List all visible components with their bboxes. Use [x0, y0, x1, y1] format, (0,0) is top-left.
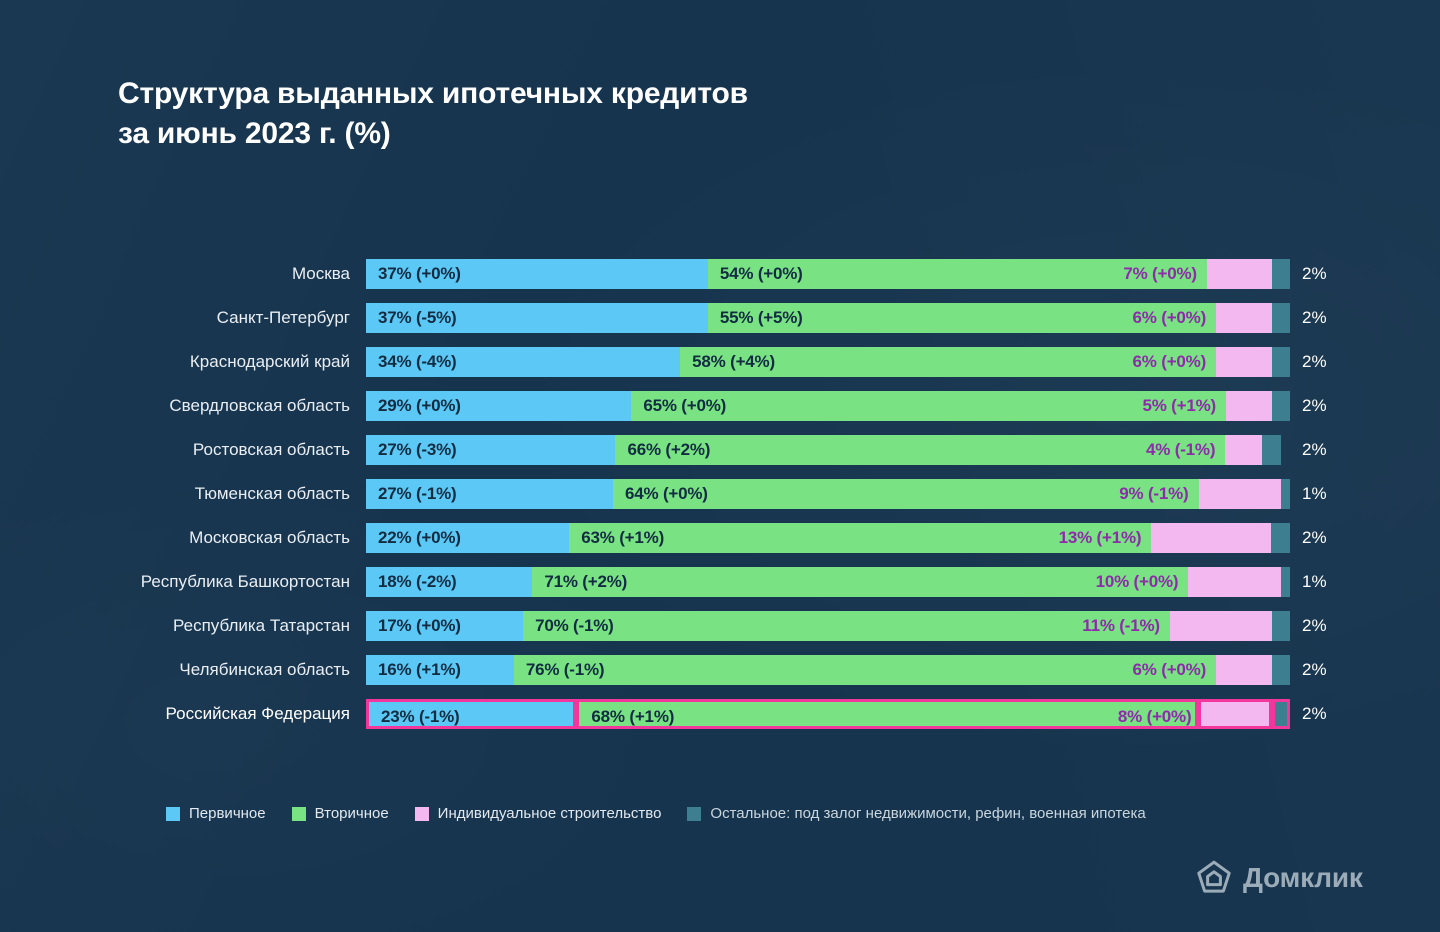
- bar-segment-primary: 29% (+0%): [366, 391, 631, 421]
- bar-segment-individual: 6% (+0%): [1216, 303, 1271, 333]
- segment-value-label: 6% (+0%): [1133, 303, 1207, 333]
- other-value-label: 2%: [1302, 655, 1327, 685]
- bar-segment-other: [1272, 611, 1290, 641]
- segment-value-label: 34% (-4%): [378, 347, 457, 377]
- bar-segment-individual: 13% (+1%): [1151, 523, 1271, 553]
- other-value-label: 2%: [1302, 303, 1327, 333]
- other-value-label: 2%: [1302, 523, 1327, 553]
- row-label: Санкт-Петербург: [0, 296, 350, 340]
- legend-label: Остальное: под залог недвижимости, рефин…: [710, 805, 1145, 822]
- other-value-label: 2%: [1302, 699, 1327, 729]
- segment-value-label: 64% (+0%): [625, 479, 708, 509]
- segment-value-label: 54% (+0%): [720, 259, 803, 289]
- row-label: Москва: [0, 252, 350, 296]
- bar-segment-other: [1272, 259, 1290, 289]
- legend-swatch-icon: [415, 807, 429, 821]
- stacked-bar: 37% (+0%)54% (+0%)7% (+0%): [366, 259, 1290, 289]
- bar-segment-individual: 7% (+0%): [1207, 259, 1272, 289]
- bar-segment-other: [1281, 567, 1290, 597]
- row-label: Московская область: [0, 516, 350, 560]
- legend-item-primary[interactable]: Первичное: [166, 805, 266, 822]
- other-value-label: 2%: [1302, 347, 1327, 377]
- bar-segment-other: [1271, 523, 1289, 553]
- other-value-label: 2%: [1302, 391, 1327, 421]
- chart-row: Республика Татарстан17% (+0%)70% (-1%)11…: [0, 604, 1440, 648]
- stacked-bar: 34% (-4%)58% (+4%)6% (+0%): [366, 347, 1290, 377]
- bar-segment-individual: 4% (-1%): [1225, 435, 1262, 465]
- bar-segment-primary: 23% (-1%): [366, 699, 576, 729]
- stacked-bar: 18% (-2%)71% (+2%)10% (+0%): [366, 567, 1290, 597]
- stacked-bar: 22% (+0%)63% (+1%)13% (+1%): [366, 523, 1290, 553]
- stacked-bar-chart: Москва37% (+0%)54% (+0%)7% (+0%)2%Санкт-…: [0, 252, 1440, 736]
- chart-row: Московская область22% (+0%)63% (+1%)13% …: [0, 516, 1440, 560]
- other-value-label: 1%: [1302, 479, 1327, 509]
- stacked-bar: 27% (-3%)66% (+2%)4% (-1%): [366, 435, 1290, 465]
- segment-value-label: 71% (+2%): [544, 567, 627, 597]
- segment-value-label: 27% (-3%): [378, 435, 457, 465]
- bar-segment-individual: 5% (+1%): [1226, 391, 1272, 421]
- segment-value-label: 17% (+0%): [378, 611, 461, 641]
- row-label: Свердловская область: [0, 384, 350, 428]
- bar-segment-individual: 11% (-1%): [1170, 611, 1272, 641]
- bar-segment-individual: 10% (+0%): [1188, 567, 1280, 597]
- stacked-bar: 23% (-1%)68% (+1%)8% (+0%): [366, 699, 1290, 729]
- segment-value-label: 8% (+0%): [1118, 702, 1192, 732]
- bar-segment-other: [1281, 479, 1290, 509]
- stacked-bar: 16% (+1%)76% (-1%)6% (+0%): [366, 655, 1290, 685]
- row-label: Челябинская область: [0, 648, 350, 692]
- row-label: Ростовская область: [0, 428, 350, 472]
- chart-row: Москва37% (+0%)54% (+0%)7% (+0%)2%: [0, 252, 1440, 296]
- bar-segment-secondary: 70% (-1%): [523, 611, 1170, 641]
- segment-value-label: 23% (-1%): [381, 702, 460, 732]
- bar-segment-secondary: 64% (+0%): [613, 479, 1199, 509]
- row-label: Республика Татарстан: [0, 604, 350, 648]
- segment-value-label: 70% (-1%): [535, 611, 614, 641]
- domclick-logo: Домклик: [1196, 860, 1363, 896]
- row-label: Тюменская область: [0, 472, 350, 516]
- bar-segment-secondary: 65% (+0%): [631, 391, 1226, 421]
- bar-segment-other: [1272, 391, 1290, 421]
- segment-value-label: 11% (-1%): [1082, 611, 1160, 641]
- bar-segment-other: [1272, 303, 1290, 333]
- chart-row: Свердловская область29% (+0%)65% (+0%)5%…: [0, 384, 1440, 428]
- logo-wordmark: Домклик: [1243, 862, 1363, 894]
- segment-value-label: 6% (+0%): [1133, 655, 1207, 685]
- bar-segment-other: [1272, 347, 1290, 377]
- segment-value-label: 58% (+4%): [692, 347, 775, 377]
- segment-value-label: 7% (+0%): [1123, 259, 1197, 289]
- legend-label: Вторичное: [315, 805, 389, 822]
- legend-swatch-icon: [166, 807, 180, 821]
- segment-value-label: 16% (+1%): [378, 655, 461, 685]
- chart-row: Республика Башкортостан18% (-2%)71% (+2%…: [0, 560, 1440, 604]
- bar-segment-individual: 6% (+0%): [1216, 655, 1271, 685]
- legend-swatch-icon: [687, 807, 701, 821]
- other-value-label: 2%: [1302, 435, 1327, 465]
- bar-segment-secondary: 71% (+2%): [532, 567, 1188, 597]
- segment-value-label: 10% (+0%): [1096, 567, 1179, 597]
- bar-segment-individual: 9% (-1%): [1199, 479, 1281, 509]
- segment-value-label: 9% (-1%): [1119, 479, 1188, 509]
- segment-value-label: 13% (+1%): [1059, 523, 1142, 553]
- legend-swatch-icon: [292, 807, 306, 821]
- legend-item-other[interactable]: Остальное: под залог недвижимости, рефин…: [687, 805, 1145, 822]
- house-pentagon-icon: [1196, 860, 1232, 896]
- bar-segment-primary: 18% (-2%): [366, 567, 532, 597]
- bar-segment-other: [1262, 435, 1280, 465]
- segment-value-label: 76% (-1%): [526, 655, 605, 685]
- segment-value-label: 37% (-5%): [378, 303, 457, 333]
- bar-segment-primary: 17% (+0%): [366, 611, 523, 641]
- page-title: Структура выданных ипотечных кредитов за…: [118, 74, 748, 154]
- other-value-label: 2%: [1302, 259, 1327, 289]
- segment-value-label: 18% (-2%): [378, 567, 457, 597]
- chart-row: Ростовская область27% (-3%)66% (+2%)4% (…: [0, 428, 1440, 472]
- legend-item-secondary[interactable]: Вторичное: [292, 805, 389, 822]
- bar-segment-other: [1272, 699, 1290, 729]
- chart-row: Тюменская область27% (-1%)64% (+0%)9% (-…: [0, 472, 1440, 516]
- segment-value-label: 22% (+0%): [378, 523, 461, 553]
- segment-value-label: 66% (+2%): [627, 435, 710, 465]
- bar-segment-secondary: 76% (-1%): [514, 655, 1216, 685]
- segment-value-label: 6% (+0%): [1133, 347, 1207, 377]
- other-value-label: 1%: [1302, 567, 1327, 597]
- legend-item-individual[interactable]: Индивидуальное строительство: [415, 805, 662, 822]
- bar-segment-primary: 34% (-4%): [366, 347, 680, 377]
- segment-value-label: 37% (+0%): [378, 259, 461, 289]
- legend-label: Индивидуальное строительство: [438, 805, 662, 822]
- segment-value-label: 65% (+0%): [643, 391, 726, 421]
- stacked-bar: 27% (-1%)64% (+0%)9% (-1%): [366, 479, 1290, 509]
- other-value-label: 2%: [1302, 611, 1327, 641]
- segment-value-label: 27% (-1%): [378, 479, 457, 509]
- stacked-bar: 29% (+0%)65% (+0%)5% (+1%): [366, 391, 1290, 421]
- chart-row: Санкт-Петербург37% (-5%)55% (+5%)6% (+0%…: [0, 296, 1440, 340]
- bar-segment-primary: 22% (+0%): [366, 523, 569, 553]
- bar-segment-primary: 16% (+1%): [366, 655, 514, 685]
- segment-value-label: 4% (-1%): [1146, 435, 1215, 465]
- bar-segment-secondary: 68% (+1%): [576, 699, 1198, 729]
- bar-segment-primary: 27% (-3%): [366, 435, 615, 465]
- row-label: Республика Башкортостан: [0, 560, 350, 604]
- chart-row: Краснодарский край34% (-4%)58% (+4%)6% (…: [0, 340, 1440, 384]
- chart-row: Челябинская область16% (+1%)76% (-1%)6% …: [0, 648, 1440, 692]
- bar-segment-individual: 6% (+0%): [1216, 347, 1271, 377]
- bar-segment-primary: 37% (+0%): [366, 259, 708, 289]
- segment-value-label: 55% (+5%): [720, 303, 803, 333]
- segment-value-label: 5% (+1%): [1142, 391, 1216, 421]
- bar-segment-primary: 37% (-5%): [366, 303, 708, 333]
- segment-value-label: 68% (+1%): [591, 702, 674, 732]
- chart-row: Российская Федерация23% (-1%)68% (+1%)8%…: [0, 692, 1440, 736]
- legend-label: Первичное: [189, 805, 266, 822]
- stacked-bar: 37% (-5%)55% (+5%)6% (+0%): [366, 303, 1290, 333]
- stacked-bar: 17% (+0%)70% (-1%)11% (-1%): [366, 611, 1290, 641]
- bar-segment-individual: 8% (+0%): [1198, 699, 1271, 729]
- bar-segment-primary: 27% (-1%): [366, 479, 613, 509]
- segment-value-label: 29% (+0%): [378, 391, 461, 421]
- row-label: Краснодарский край: [0, 340, 350, 384]
- bar-segment-other: [1272, 655, 1290, 685]
- segment-value-label: 63% (+1%): [581, 523, 664, 553]
- row-label: Российская Федерация: [0, 692, 350, 736]
- chart-legend: ПервичноеВторичноеИндивидуальное строите…: [166, 805, 1146, 822]
- bar-segment-secondary: 66% (+2%): [615, 435, 1225, 465]
